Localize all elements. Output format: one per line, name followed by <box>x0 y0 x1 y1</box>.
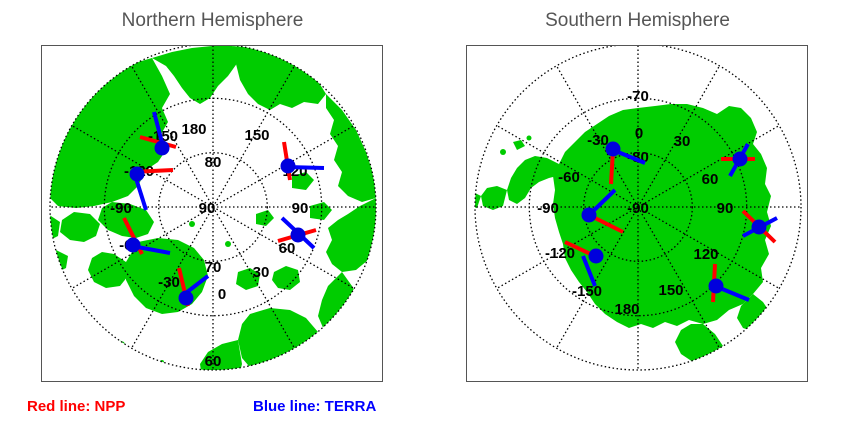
southern-plot-frame: -60 -70 -80 -90 0 30 60 90 120 150 180 -… <box>466 45 808 382</box>
southern-panel-title: Southern Hemisphere <box>425 10 850 32</box>
label-lon-60: 60 <box>279 240 296 257</box>
panel-northern-hemisphere: Northern Hemisphere <box>0 0 425 425</box>
northern-plot-frame: 90 80 70 60 180 150 120 90 60 30 0 -30 -… <box>41 45 383 382</box>
label-lon-120: 120 <box>693 246 718 263</box>
panel-southern-hemisphere: Southern Hemisphere <box>425 0 850 425</box>
label-lon-m30: -30 <box>587 132 609 149</box>
label-lon-90: 90 <box>292 200 309 217</box>
legend-npp: Red line: NPP <box>27 398 125 415</box>
label-lon-30: 30 <box>253 264 270 281</box>
label-lon-60: 60 <box>702 171 719 188</box>
figure-root: Northern Hemisphere <box>0 0 850 425</box>
label-lon-m60: -60 <box>558 169 580 186</box>
label-lon-0: 0 <box>218 286 226 303</box>
northern-polar-map: 90 80 70 60 180 150 120 90 60 30 0 -30 -… <box>42 46 381 380</box>
label-ring-80: 80 <box>205 154 222 171</box>
label-lon-180: 180 <box>181 121 206 138</box>
label-lon-m120: -120 <box>545 245 575 262</box>
northern-panel-title: Northern Hemisphere <box>0 10 425 32</box>
label-lon-m150: -150 <box>572 283 602 300</box>
label-lon-m90: -90 <box>537 200 559 217</box>
label-lon-m30: -30 <box>158 274 180 291</box>
label-lon-90: 90 <box>717 200 734 217</box>
label-ring-60: 60 <box>205 353 222 370</box>
label-pole-m90: -90 <box>627 200 649 217</box>
label-lon-m90: -90 <box>110 200 132 217</box>
label-lon-30: 30 <box>674 133 691 150</box>
label-lon-150: 150 <box>658 282 683 299</box>
label-ring-70: 70 <box>205 259 222 276</box>
label-pole-90: 90 <box>199 200 216 217</box>
southern-polar-map: -60 -70 -80 -90 0 30 60 90 120 150 180 -… <box>467 46 806 380</box>
label-ring-m70: -70 <box>627 88 649 105</box>
label-ring-m60: -60 <box>627 46 649 49</box>
legend-terra: Blue line: TERRA <box>253 398 376 415</box>
label-lon-0: 0 <box>635 125 643 142</box>
label-lon-150: 150 <box>244 127 269 144</box>
label-lon-180: 180 <box>614 301 639 318</box>
